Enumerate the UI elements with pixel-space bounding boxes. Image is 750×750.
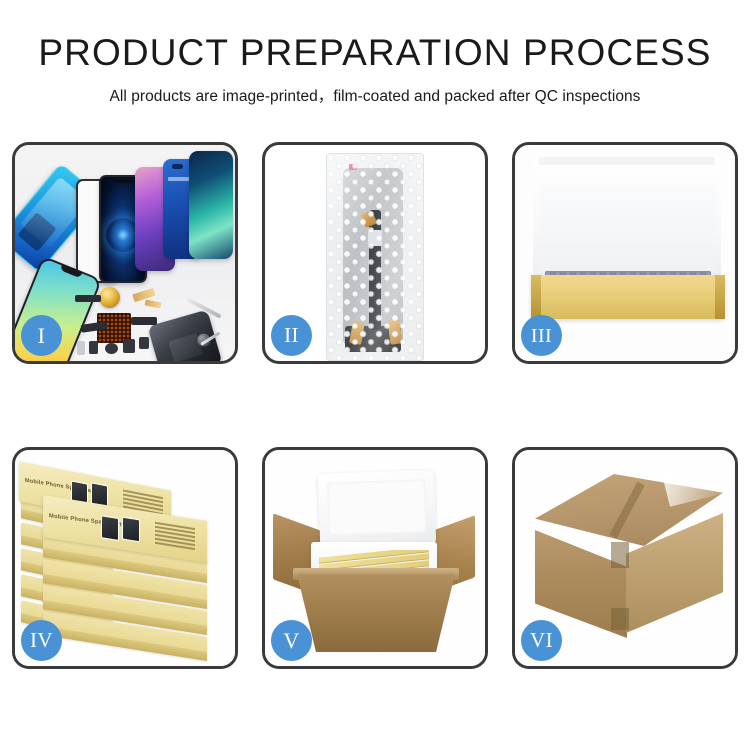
speaker-coil-part	[99, 287, 120, 308]
step-badge-4: IV	[21, 620, 62, 661]
bubble-wrap-bag	[326, 153, 424, 361]
foam-cooler-lid	[318, 470, 437, 548]
plastic-sheen	[327, 154, 423, 360]
process-step-panel-4[interactable]: Mobile Phone Spare Parts Mobile Phone Sp…	[12, 447, 238, 669]
page-title: PRODUCT PREPARATION PROCESS	[0, 34, 750, 73]
carton-tape-upper	[611, 542, 629, 568]
process-step-panel-1[interactable]: I	[12, 142, 238, 364]
process-step-grid: I II III	[12, 142, 738, 669]
kraft-box-tray	[531, 275, 725, 319]
page-header: PRODUCT PREPARATION PROCESS All products…	[0, 0, 750, 106]
step-badge-1: I	[21, 315, 62, 356]
white-foam-sheet	[539, 185, 715, 277]
box-spec-lines	[155, 522, 195, 552]
process-step-panel-6[interactable]: VI	[512, 447, 738, 669]
sensor-part	[139, 337, 149, 349]
camera-module-part	[123, 339, 135, 353]
carton-tape-lower	[611, 608, 629, 630]
camera-cutout	[172, 164, 183, 169]
carton-highlight	[662, 459, 728, 507]
small-module-part	[89, 341, 98, 354]
teal-wave-phone	[189, 151, 233, 259]
step-badge-2: II	[271, 315, 312, 356]
process-step-panel-5[interactable]: V	[262, 447, 488, 669]
ribbon-cable-part	[131, 317, 157, 325]
box-artwork-screen	[101, 515, 119, 541]
process-step-panel-2[interactable]: II	[262, 142, 488, 364]
battery-connector-part	[75, 295, 101, 302]
vibration-motor-part	[105, 343, 118, 354]
step-badge-3: III	[521, 315, 562, 356]
step-badge-6: VI	[521, 620, 562, 661]
shipping-carton-body	[297, 574, 455, 652]
step-badge-5: V	[271, 620, 312, 661]
phone-notch	[114, 179, 132, 183]
process-step-panel-3[interactable]: III	[512, 142, 738, 364]
box-artwork-screen	[122, 517, 140, 543]
page-subtitle: All products are image-printed，film-coat…	[0, 84, 750, 106]
sim-tray-part	[77, 341, 85, 355]
